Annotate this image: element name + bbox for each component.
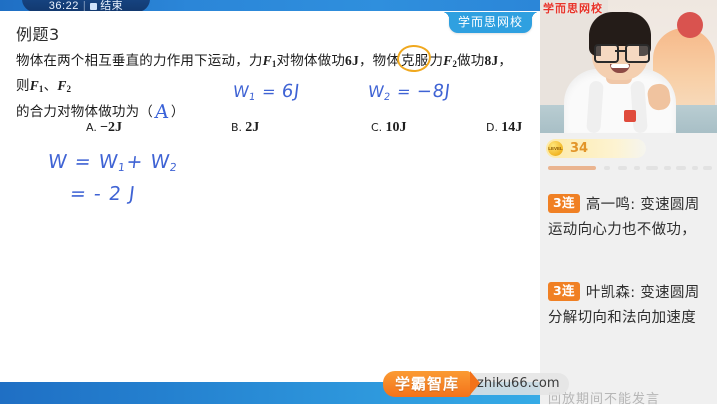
replay-disabled-note: 回放期间不能发言 [548, 388, 708, 407]
teacher-jacket-logo [624, 110, 636, 122]
solution-line-2: = - 2 J [68, 181, 176, 207]
question-line1-part4: 力 [429, 53, 443, 69]
class-timer-value: 36:22 [49, 0, 79, 11]
handwritten-annotation-w2: W2 = −8J [367, 81, 452, 103]
option-d[interactable]: D. 14J [486, 119, 522, 136]
lesson-slide-canvas: 学而思网校 例题3 物体在两个相互垂直的力作用下运动，力F1对物体做功6J，物体… [0, 11, 540, 382]
option-a[interactable]: A. −2J [86, 119, 122, 136]
option-d-value: 14J [501, 120, 522, 135]
level-badge-row: LEVEL 34 [546, 139, 646, 158]
question-line2: 的合力对物体做功为（ [16, 104, 153, 120]
level-coin-label: LEVEL [548, 146, 563, 151]
glasses-bridge-icon [615, 50, 625, 52]
lesson-top-toolbar: 36:22 | 结束 [0, 0, 540, 11]
faded-text-bar [676, 166, 686, 170]
glasses-left-lens-icon [594, 44, 619, 63]
xueersi-brand-badge: 学而思网校 [449, 12, 532, 33]
ann-w2-value: −8J [416, 81, 452, 102]
ann-w2-equals: = [396, 82, 418, 101]
faded-text-bar [692, 166, 698, 170]
question-line2-end: ） [171, 104, 185, 120]
variable-f2-ref: F2 [57, 78, 71, 93]
streak-badge: 3连 [548, 282, 580, 301]
solution-line1-lead: W = W [47, 151, 120, 173]
video-watermark: 学而思网校 [543, 0, 603, 16]
faded-text-bar [646, 166, 658, 170]
chat-panel: LEVEL 34 3连高一鸣: 变速圆周运动向心力也不做功， 3连叶凯森: 变速… [540, 133, 717, 404]
page-title: 例题3 [16, 21, 60, 45]
faded-text-bar [664, 166, 671, 170]
faded-text-bar [604, 166, 610, 170]
variable-f1-ref: F1 [30, 78, 44, 93]
ann-w1-value: 6J [281, 81, 302, 102]
glasses-right-lens-icon [625, 44, 650, 63]
question-line1-part1: 物体在两个相互垂直的力作用下运动，力 [16, 53, 263, 69]
option-b-value: 2J [245, 120, 259, 135]
stop-square-icon [90, 3, 97, 10]
faded-text-bar [703, 166, 712, 170]
question-work1: 6J [345, 53, 359, 68]
option-c-label: C. [371, 121, 382, 134]
site-watermark-brand: 学霸智库 [383, 371, 471, 397]
teacher-teeth [611, 64, 629, 68]
chat-message-body: 3连叶凯森: 变速圆周分解切向和法向加速度 [548, 281, 711, 331]
handwritten-solution: W = W1+ W2 = - 2 J [42, 149, 179, 207]
video-bg-red-circle [677, 12, 703, 38]
right-sidebar: 学而思网校 LEVEL 34 3连高一鸣: 变速圆周运动向心力也不做功， 3连叶… [540, 0, 717, 404]
option-b[interactable]: B. 2J [231, 119, 259, 136]
variable-f1: F1 [263, 53, 277, 68]
streak-badge: 3连 [548, 194, 580, 213]
question-work2: 8J [484, 53, 498, 68]
option-b-label: B. [231, 121, 242, 134]
circled-keyword-kefu: 克服 [400, 51, 429, 72]
solution-line1-mid: + W [125, 151, 171, 173]
ann-w2-subscript: 2 [383, 92, 391, 103]
timer-separator: | [83, 0, 86, 11]
variable-f2: F2 [443, 53, 457, 68]
option-a-value: −2J [100, 120, 122, 135]
answer-options: A. −2J B. 2J C. 10J D. 14J [16, 119, 521, 141]
option-c-value: 10J [385, 120, 406, 135]
question-line1-part7: 、 [44, 78, 58, 94]
faded-name-bar [548, 166, 596, 170]
solution-line1-sub2: 2 [169, 161, 179, 174]
question-line1-part3: ，物体 [359, 53, 400, 69]
end-class-label: 结束 [100, 0, 123, 11]
level-count: 34 [570, 141, 588, 156]
chat-message[interactable]: 3连高一鸣: 变速圆周运动向心力也不做功， [548, 193, 711, 243]
option-c[interactable]: C. 10J [371, 119, 406, 136]
question-line1-part5: 做功 [457, 53, 484, 69]
option-a-label: A. [86, 121, 97, 134]
level-coin-icon: LEVEL [548, 141, 563, 156]
faded-text-bar [618, 166, 627, 170]
class-timer-pill[interactable]: 36:22 | 结束 [22, 0, 150, 11]
teacher-video-feed[interactable]: 学而思网校 [540, 0, 717, 133]
ann-w1-subscript: 1 [248, 92, 256, 103]
handwritten-annotation-w1: W1 = 6J [232, 81, 301, 103]
option-d-label: D. [486, 121, 498, 134]
chat-message[interactable]: 3连叶凯森: 变速圆周分解切向和法向加速度 [548, 281, 711, 331]
faded-text-bar [634, 166, 640, 170]
ann-w1-equals: = [261, 82, 283, 101]
chat-message-body: 3连高一鸣: 变速圆周运动向心力也不做功， [548, 193, 711, 243]
question-line1-part2: 对物体做功 [277, 53, 346, 69]
solution-line-1: W = W1+ W2 [46, 149, 180, 181]
faded-chat-line [548, 164, 714, 173]
end-class-button[interactable]: 结束 [90, 0, 123, 11]
